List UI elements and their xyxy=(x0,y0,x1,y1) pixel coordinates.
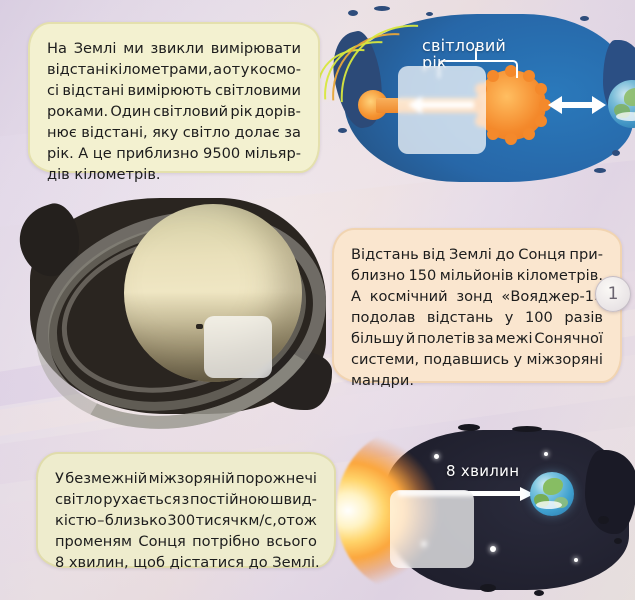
callout-text-line: сівідстанівимірюютьсвітловими xyxy=(47,80,301,101)
callout-text-line: мандри. xyxy=(351,370,603,391)
paint-fleck xyxy=(374,6,390,11)
translucent-overlay-panel xyxy=(390,490,474,568)
paint-fleck xyxy=(594,168,606,173)
earth-icon xyxy=(530,472,574,516)
star xyxy=(434,454,439,459)
paint-fleck xyxy=(426,12,433,16)
paint-splat xyxy=(480,584,496,592)
callout-text-line: близно150мільйонівкілометрів. xyxy=(351,265,603,286)
sun-icon xyxy=(476,70,546,140)
paint-splat xyxy=(534,590,544,596)
saturn-moon-dot xyxy=(196,324,203,329)
star xyxy=(544,452,548,456)
callout-text-line: відстанікілометрами,аотукосмо- xyxy=(47,59,301,80)
callout-text-line: 8 хвилин, щоб дістатися до Землі. xyxy=(55,552,317,573)
callout-text-line: світлорухаєтьсязпостійноюшвид- xyxy=(55,489,317,510)
eight-minutes-label: 8 хвилин xyxy=(446,462,519,480)
paint-splat xyxy=(614,538,622,544)
callout-box-light-speed: Убезмежнійміжзорянійпорожнечісвітлорухає… xyxy=(36,452,336,568)
translucent-overlay-panel xyxy=(398,66,486,154)
book-page-spread: світловий рік xyxy=(0,0,635,600)
callout-text-line: ВідстаньвідЗемлідоСонцяпри- xyxy=(351,244,603,265)
paint-splat xyxy=(598,516,609,524)
callout-text-line: Акосмічнийзонд«Вояджер-1» xyxy=(351,286,603,307)
callout-text-line: більшуйполетівзамежіСонячної xyxy=(351,328,603,349)
star xyxy=(574,558,578,562)
saturn-photo xyxy=(28,196,328,416)
callout-text-line: роками.Одинсвітловийрікдорів- xyxy=(47,101,301,122)
light-year-diagram: світловий рік xyxy=(330,8,635,190)
eight-minutes-diagram: 8 хвилин xyxy=(362,424,635,600)
paint-fleck xyxy=(612,150,620,156)
callout-text-line: НаЗемлімизвикливимірювати xyxy=(47,38,301,59)
paint-splat xyxy=(512,426,542,432)
callout-text-line: системи,подавшисьуміжзоряні xyxy=(351,349,603,370)
page-number-badge: 1 xyxy=(595,276,631,312)
callout-text-line: дів кілометрів. xyxy=(47,164,301,185)
paint-splat xyxy=(458,424,480,431)
callout-text-line: кістю–близько300тисячкм/с,отож xyxy=(55,510,317,531)
callout-text-line: рік.Ацеприблизно9500мільяр- xyxy=(47,143,301,164)
sun-earth-distance-arrow xyxy=(548,96,606,114)
callout-text-line: подолаввідстаньу100разів xyxy=(351,307,603,328)
callout-box-voyager: ВідстаньвідЗемлідоСонцяпри-близно150міль… xyxy=(332,228,622,383)
callout-box-light-year: НаЗемлімизвикливимірювативідстанікіломет… xyxy=(28,22,320,173)
translucent-overlay-panel xyxy=(204,316,272,378)
callout-text-line: нюєвідстані,якусвітлодолаєза xyxy=(47,122,301,143)
callout-text-line: Убезмежнійміжзорянійпорожнечі xyxy=(55,468,317,489)
paint-fleck xyxy=(348,10,358,16)
callout-text-line: променямСонцяпотрібновсього xyxy=(55,531,317,552)
star xyxy=(490,546,496,552)
paint-fleck xyxy=(580,16,589,21)
